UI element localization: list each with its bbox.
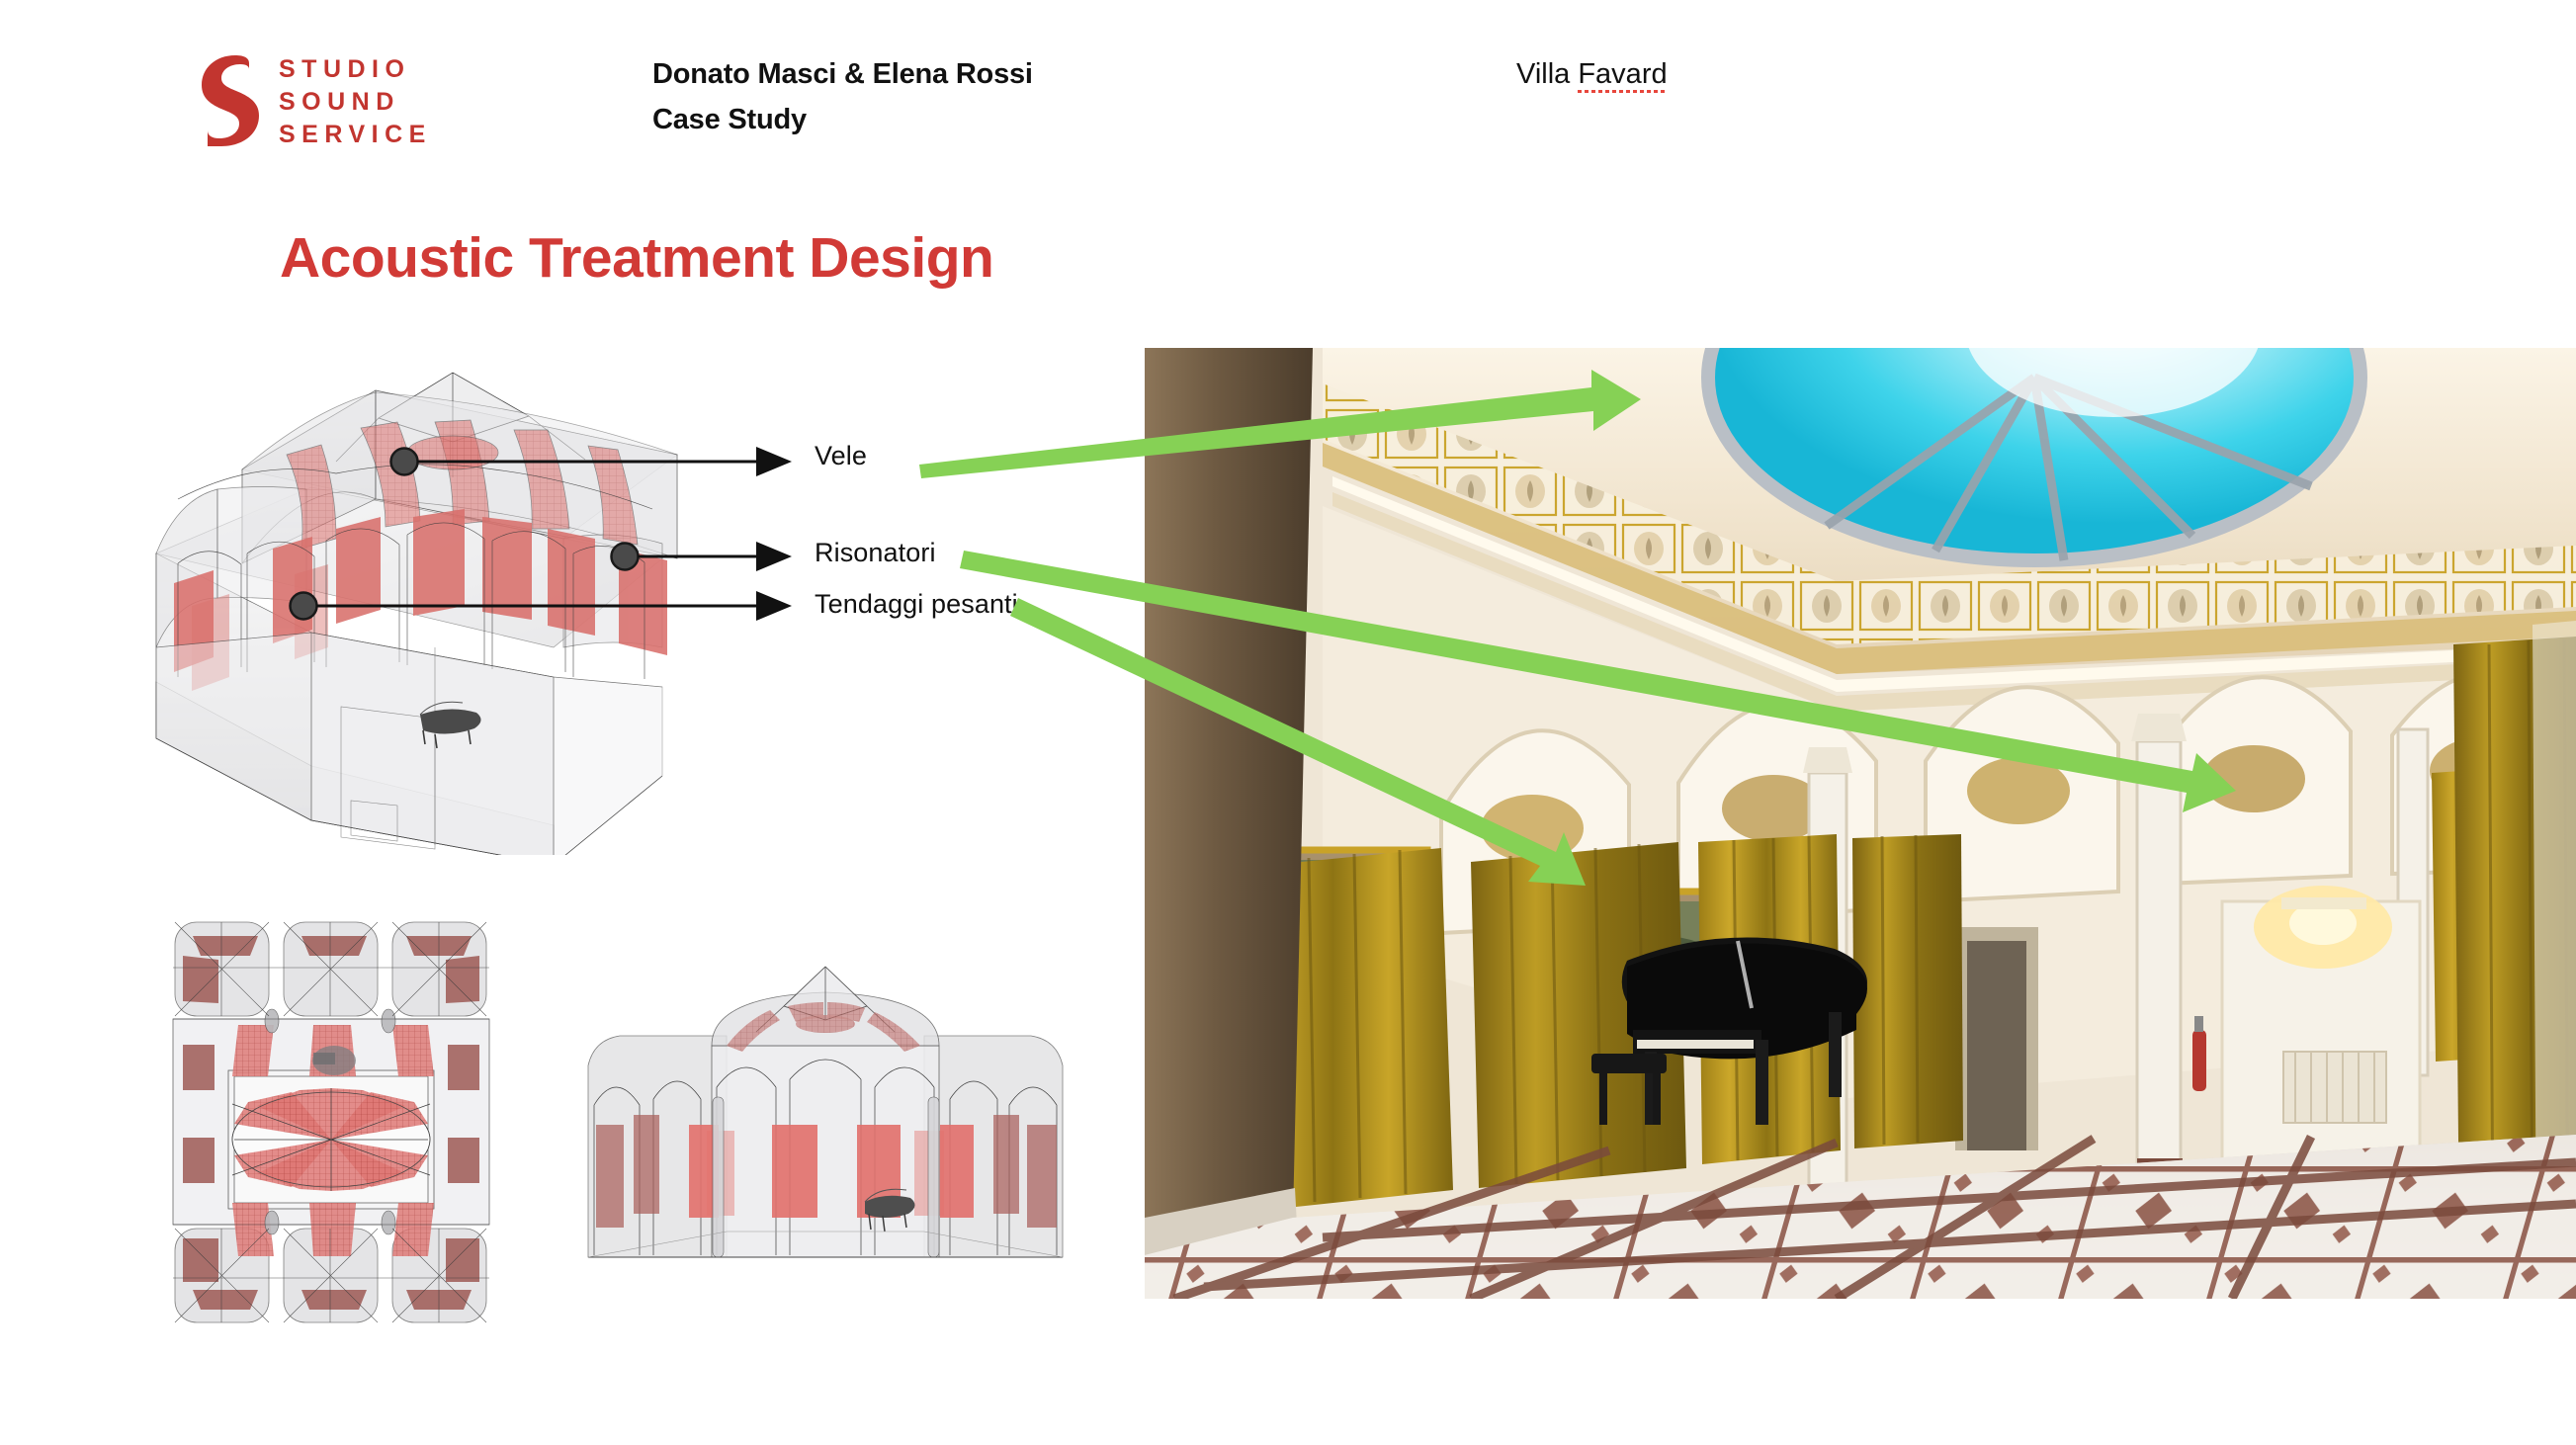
logo-line-2: SOUND [279,86,432,119]
page-title: Acoustic Treatment Design [280,225,993,291]
section-elevation-view [568,949,1082,1275]
ceiling-plan-view [153,894,509,1359]
authors-text: Donato Masci & Elena Rossi [652,51,1166,97]
slide-root: STUDIO SOUND SERVICE Donato Masci & Elen… [0,0,2576,1445]
logo-line-1: STUDIO [279,53,432,86]
logo-wordmark: STUDIO SOUND SERVICE [279,53,432,151]
stylized-s-logo-icon [198,55,263,146]
header-authors-block: Donato Masci & Elena Rossi Case Study [652,51,1166,142]
callout-label-vele: Vele [815,441,867,471]
villa-favard-ballroom-photo [1145,348,2576,1299]
project-name-header: Villa Favard [1516,51,1668,97]
callout-label-tendaggi: Tendaggi pesanti [815,589,1018,620]
project-name-misspelled: Favard [1578,58,1667,90]
logo-line-3: SERVICE [279,119,432,151]
project-prefix: Villa [1516,58,1578,90]
brand-logo: STUDIO SOUND SERVICE [198,51,494,150]
3d-axonometric-model [138,351,712,855]
subtitle-text: Case Study [652,97,1166,142]
callout-label-risonatori: Risonatori [815,538,936,568]
